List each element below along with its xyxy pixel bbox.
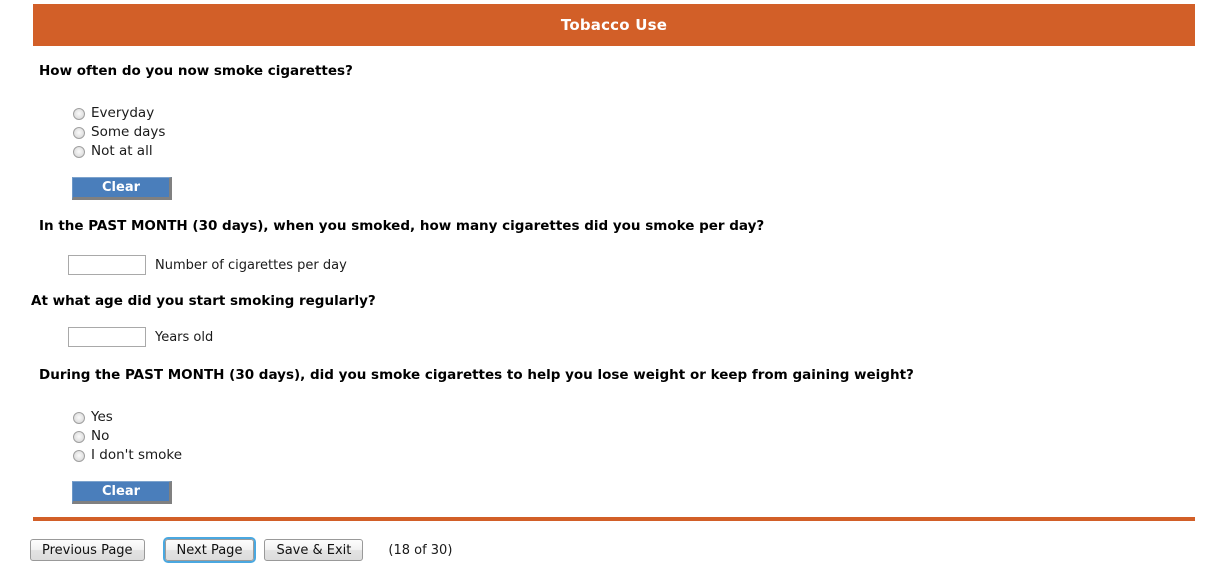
radio-unchecked-icon[interactable] bbox=[73, 108, 85, 120]
radio-option-everyday[interactable]: Everyday bbox=[73, 104, 165, 123]
question-label-smoke-frequency: How often do you now smoke cigarettes? bbox=[39, 63, 353, 79]
question-label-cigarettes-per-day: In the PAST MONTH (30 days), when you sm… bbox=[39, 218, 764, 234]
radio-unchecked-icon[interactable] bbox=[73, 431, 85, 443]
save-and-exit-button[interactable]: Save & Exit bbox=[264, 539, 363, 561]
radio-unchecked-icon[interactable] bbox=[73, 450, 85, 462]
radio-option-label: Everyday bbox=[91, 104, 154, 123]
radio-option-yes[interactable]: Yes bbox=[73, 408, 182, 427]
start-age-input[interactable] bbox=[68, 327, 146, 347]
radio-option-no[interactable]: No bbox=[73, 427, 182, 446]
page-header-banner: Tobacco Use bbox=[33, 4, 1195, 46]
cigarettes-per-day-input[interactable] bbox=[68, 255, 146, 275]
question-label-start-age: At what age did you start smoking regula… bbox=[31, 293, 376, 309]
question-label-weight-control: During the PAST MONTH (30 days), did you… bbox=[39, 367, 914, 383]
page-title: Tobacco Use bbox=[561, 16, 667, 34]
radio-group-weight-control: Yes No I don't smoke bbox=[73, 408, 182, 465]
radio-unchecked-icon[interactable] bbox=[73, 146, 85, 158]
input-row-start-age: Years old bbox=[68, 327, 213, 347]
next-page-button[interactable]: Next Page bbox=[165, 539, 255, 561]
previous-page-button[interactable]: Previous Page bbox=[30, 539, 145, 561]
radio-unchecked-icon[interactable] bbox=[73, 127, 85, 139]
radio-option-i-dont-smoke[interactable]: I don't smoke bbox=[73, 446, 182, 465]
cigarettes-per-day-caption: Number of cigarettes per day bbox=[155, 258, 347, 273]
page-counter: (18 of 30) bbox=[388, 543, 452, 558]
radio-option-label: Yes bbox=[91, 408, 113, 427]
footer-divider bbox=[33, 517, 1195, 521]
radio-unchecked-icon[interactable] bbox=[73, 412, 85, 424]
radio-option-label: I don't smoke bbox=[91, 446, 182, 465]
radio-option-label: No bbox=[91, 427, 109, 446]
input-row-cigarettes-per-day: Number of cigarettes per day bbox=[68, 255, 347, 275]
radio-group-smoke-frequency: Everyday Some days Not at all bbox=[73, 104, 165, 161]
start-age-caption: Years old bbox=[155, 330, 213, 345]
clear-answer-button-smoke-frequency[interactable]: Clear Answer bbox=[72, 177, 172, 200]
survey-form: How often do you now smoke cigarettes? E… bbox=[0, 46, 1224, 513]
clear-answer-button-weight-control[interactable]: Clear Answer bbox=[72, 481, 172, 504]
radio-option-some-days[interactable]: Some days bbox=[73, 123, 165, 142]
footer-navigation: Previous Page Next Page Save & Exit (18 … bbox=[0, 533, 1224, 567]
radio-option-label: Not at all bbox=[91, 142, 153, 161]
radio-option-not-at-all[interactable]: Not at all bbox=[73, 142, 165, 161]
radio-option-label: Some days bbox=[91, 123, 165, 142]
